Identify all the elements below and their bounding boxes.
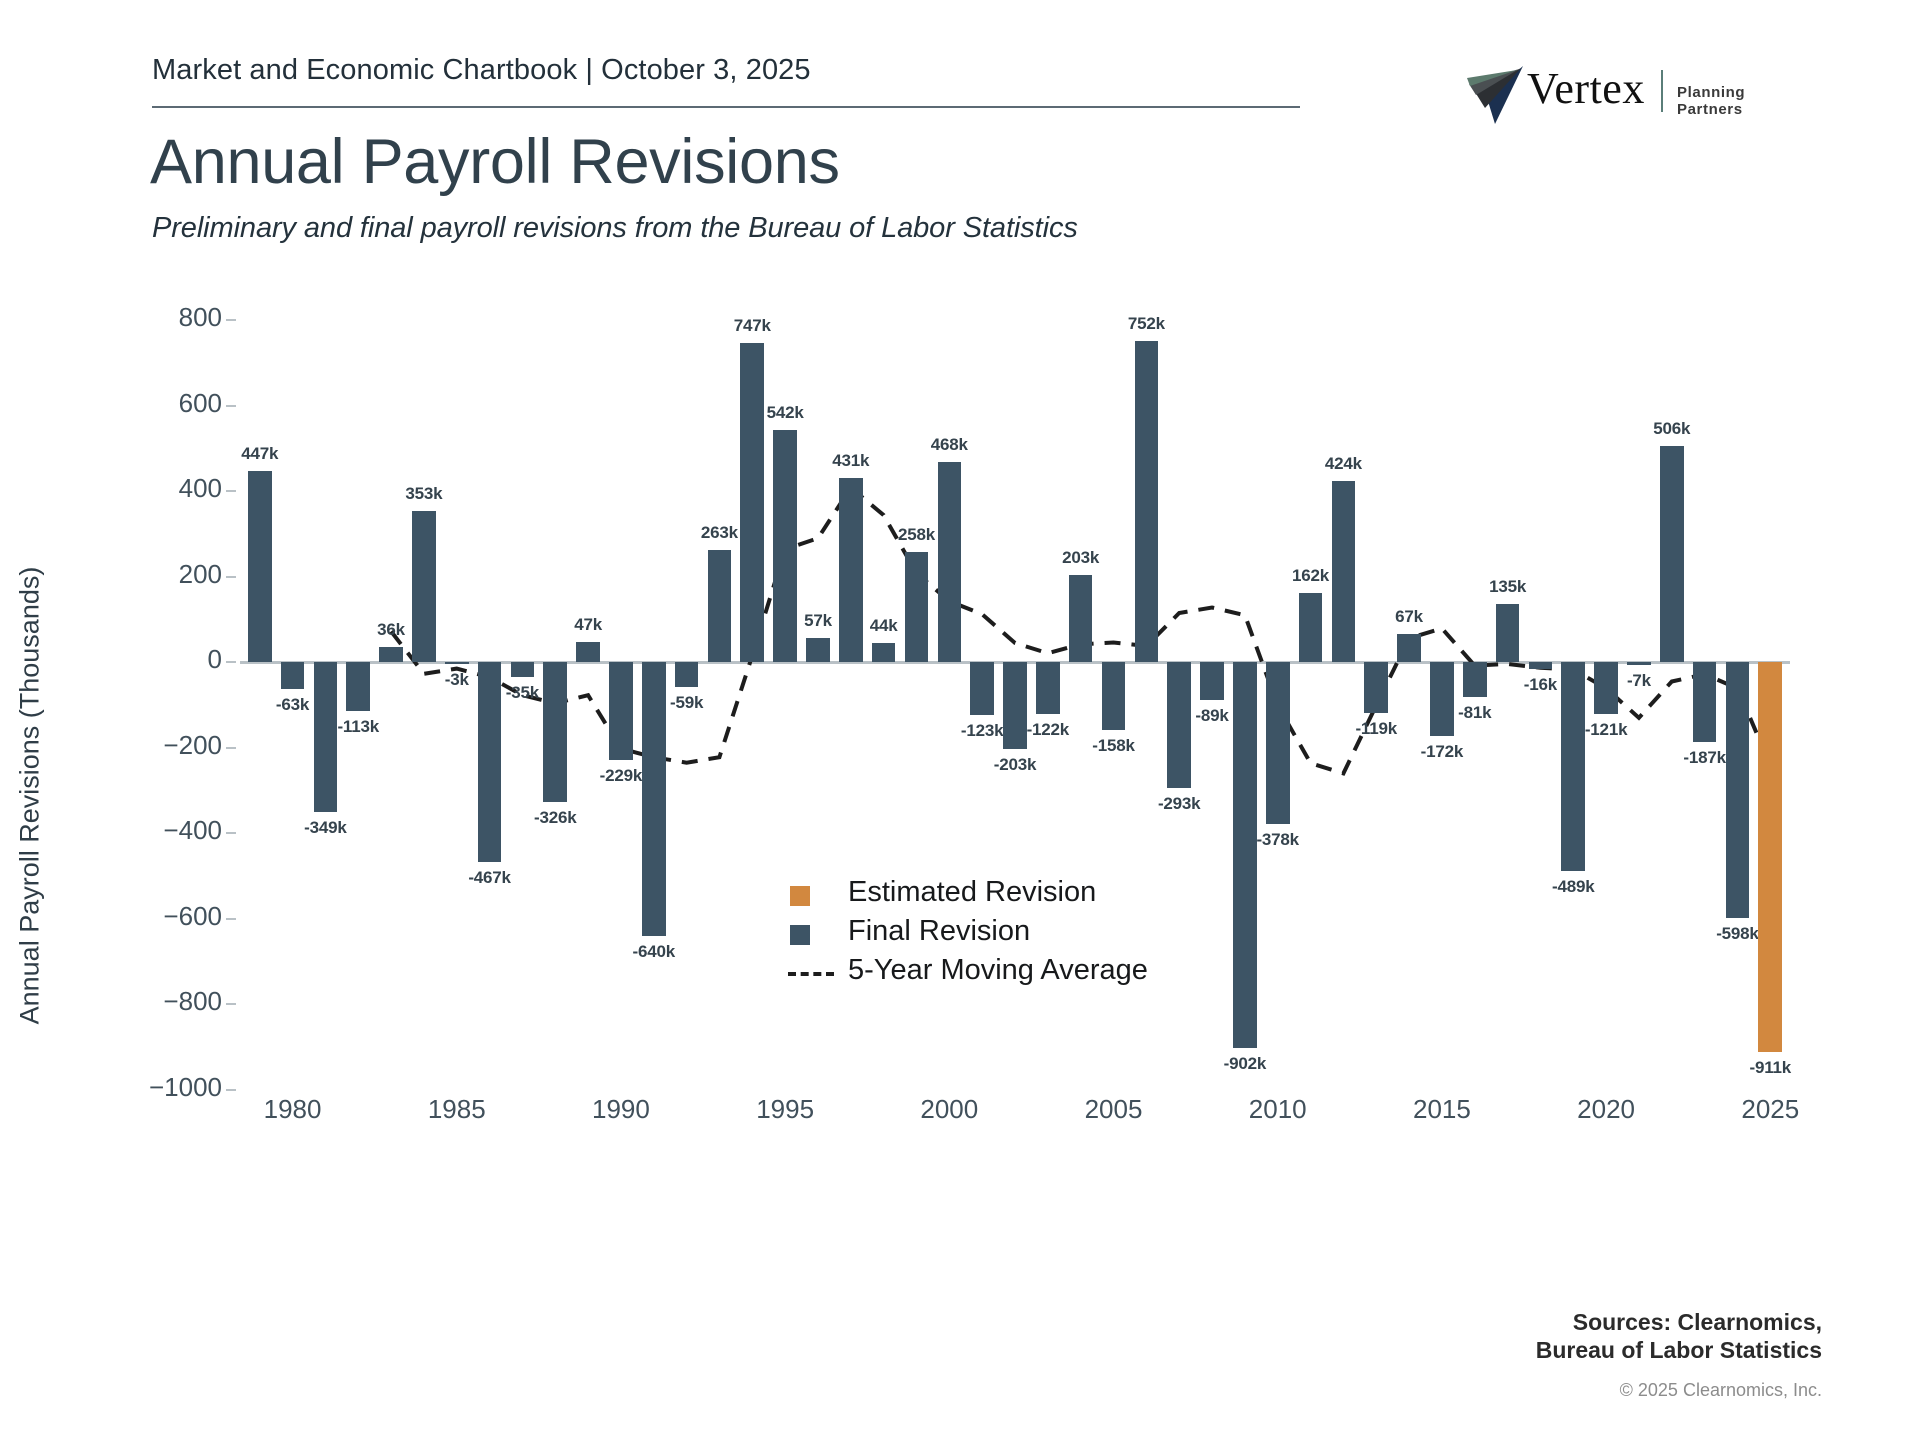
bar-value-label: -158k (1069, 736, 1159, 756)
bar-final-revision[interactable] (576, 642, 600, 662)
y-axis-tick-mark (226, 661, 236, 663)
bar-value-label: 468k (904, 435, 994, 455)
vertex-logo-wordmark: Vertex (1527, 63, 1645, 114)
header-divider (152, 106, 1300, 108)
bar-value-label: -911k (1725, 1058, 1815, 1078)
bar-value-label: 353k (379, 484, 469, 504)
sources-line-2: Bureau of Labor Statistics (1536, 1336, 1822, 1365)
bar-final-revision[interactable] (511, 662, 535, 677)
y-axis-tick-label: −200 (163, 730, 222, 761)
vertex-logo: Vertex Planning Partners (1465, 60, 1765, 130)
bar-final-revision[interactable] (1266, 662, 1290, 824)
bar-value-label: -113k (313, 717, 403, 737)
y-axis-tick-label: 600 (179, 388, 222, 419)
bar-value-label: -203k (970, 755, 1060, 775)
bar-value-label: -7k (1594, 671, 1684, 691)
legend-item-label: Final Revision (848, 915, 1030, 948)
x-axis-tick-label: 2015 (1413, 1094, 1471, 1125)
y-axis-tick-label: 200 (179, 559, 222, 590)
bar-value-label: 431k (806, 451, 896, 471)
chart-legend: Estimated RevisionFinal Revision5-Year M… (790, 876, 1210, 998)
bar-final-revision[interactable] (412, 511, 436, 662)
y-axis-tick-label: 800 (179, 302, 222, 333)
bar-value-label: 542k (740, 403, 830, 423)
x-axis-tick-label: 2000 (920, 1094, 978, 1125)
x-axis-tick-label: 1985 (428, 1094, 486, 1125)
bar-final-revision[interactable] (970, 662, 994, 715)
bar-final-revision[interactable] (1463, 662, 1487, 697)
vertex-logo-tagline: Planning Partners (1677, 84, 1765, 118)
legend-item-label: Estimated Revision (848, 876, 1096, 909)
bar-value-label: 447k (215, 444, 305, 464)
y-axis: Annual Payroll Revisions (Thousands) 800… (0, 320, 240, 1110)
y-axis-tick-label: 0 (208, 644, 222, 675)
sources-note: Sources: Clearnomics, Bureau of Labor St… (1536, 1308, 1822, 1366)
x-axis: 1980198519901995200020052010201520202025 (240, 1094, 1790, 1154)
legend-item-label: 5-Year Moving Average (848, 954, 1148, 987)
bar-value-label: 747k (707, 316, 797, 336)
bar-value-label: -378k (1233, 830, 1323, 850)
y-axis-tick-mark (226, 490, 236, 492)
bar-final-revision[interactable] (1561, 662, 1585, 871)
bar-value-label: -59k (642, 693, 732, 713)
y-axis-tick-mark (226, 1089, 236, 1091)
bar-final-revision[interactable] (1529, 662, 1553, 669)
y-axis-tick-mark (226, 319, 236, 321)
legend-swatch-icon (790, 925, 810, 945)
y-axis-tick-mark (226, 918, 236, 920)
x-axis-tick-label: 2010 (1249, 1094, 1307, 1125)
bar-final-revision[interactable] (905, 552, 929, 662)
bar-final-revision[interactable] (1102, 662, 1126, 730)
bar-final-revision[interactable] (938, 462, 962, 662)
y-axis-tick-mark (226, 576, 236, 578)
bar-final-revision[interactable] (1036, 662, 1060, 714)
bar-value-label: 203k (1036, 548, 1126, 568)
bar-final-revision[interactable] (1069, 575, 1093, 662)
bar-final-revision[interactable] (1233, 662, 1257, 1048)
bar-final-revision[interactable] (281, 662, 305, 689)
bar-value-label: -121k (1561, 720, 1651, 740)
bar-final-revision[interactable] (708, 550, 732, 663)
bar-estimated-revision[interactable] (1758, 662, 1782, 1052)
x-axis-tick-label: 2020 (1577, 1094, 1635, 1125)
legend-dashed-line-icon (788, 972, 834, 976)
x-axis-tick-label: 1980 (264, 1094, 322, 1125)
y-axis-tick-mark (226, 405, 236, 407)
bar-value-label: 47k (543, 615, 633, 635)
bar-final-revision[interactable] (1693, 662, 1717, 742)
y-axis-tick-mark (226, 1003, 236, 1005)
bar-final-revision[interactable] (1332, 481, 1356, 662)
bar-value-label: 424k (1298, 454, 1388, 474)
bar-final-revision[interactable] (1726, 662, 1750, 918)
bar-value-label: -902k (1200, 1054, 1290, 1074)
x-axis-tick-label: 2005 (1085, 1094, 1143, 1125)
y-axis-tick-mark (226, 832, 236, 834)
vertex-arrow-icon (1465, 64, 1527, 126)
logo-divider (1661, 70, 1663, 112)
bar-final-revision[interactable] (1299, 593, 1323, 662)
x-axis-tick-label: 1990 (592, 1094, 650, 1125)
y-axis-tick-label: −1000 (149, 1072, 222, 1103)
page-title: Annual Payroll Revisions (150, 126, 840, 198)
bar-final-revision[interactable] (1397, 634, 1421, 663)
bar-final-revision[interactable] (806, 638, 830, 662)
bar-value-label: -293k (1134, 794, 1224, 814)
y-axis-tick-label: −600 (163, 901, 222, 932)
bar-value-label: -172k (1397, 742, 1487, 762)
bar-value-label: -640k (609, 942, 699, 962)
bar-final-revision[interactable] (543, 662, 567, 801)
bar-final-revision[interactable] (1496, 604, 1520, 662)
page-subtitle: Preliminary and final payroll revisions … (152, 212, 1078, 245)
bar-value-label: -349k (280, 818, 370, 838)
x-axis-tick-label: 1995 (756, 1094, 814, 1125)
bar-final-revision[interactable] (609, 662, 633, 760)
bar-value-label: 752k (1101, 314, 1191, 334)
bar-final-revision[interactable] (872, 643, 896, 662)
chartbook-header-line: Market and Economic Chartbook | October … (152, 54, 811, 87)
bar-value-label: -326k (510, 808, 600, 828)
bar-final-revision[interactable] (379, 647, 403, 662)
y-axis-tick-label: −400 (163, 815, 222, 846)
bar-final-revision[interactable] (740, 343, 764, 663)
bar-value-label: -489k (1528, 877, 1618, 897)
bar-final-revision[interactable] (1135, 341, 1159, 663)
bar-value-label: -467k (445, 868, 535, 888)
bar-final-revision[interactable] (1660, 446, 1684, 662)
bar-value-label: 135k (1463, 577, 1553, 597)
bar-value-label: 67k (1364, 607, 1454, 627)
bar-value-label: -81k (1430, 703, 1520, 723)
y-axis-tick-label: −800 (163, 986, 222, 1017)
bar-final-revision[interactable] (314, 662, 338, 811)
y-axis-tick-mark (226, 747, 236, 749)
y-axis-title: Annual Payroll Revisions (Thousands) (15, 561, 46, 1031)
x-axis-tick-label: 2025 (1741, 1094, 1799, 1125)
bar-final-revision[interactable] (1430, 662, 1454, 736)
bar-final-revision[interactable] (346, 662, 370, 710)
copyright-note: © 2025 Clearnomics, Inc. (1620, 1380, 1822, 1401)
bar-final-revision[interactable] (1364, 662, 1388, 713)
bar-final-revision[interactable] (675, 662, 699, 687)
y-axis-tick-label: 400 (179, 473, 222, 504)
bar-value-label: -119k (1331, 719, 1421, 739)
bar-final-revision[interactable] (248, 471, 272, 662)
legend-swatch-icon (790, 886, 810, 906)
sources-line-1: Sources: Clearnomics, (1536, 1308, 1822, 1337)
bar-final-revision[interactable] (445, 662, 469, 664)
bar-final-revision[interactable] (1627, 662, 1651, 665)
bar-value-label: 506k (1627, 419, 1717, 439)
bar-final-revision[interactable] (1200, 662, 1224, 700)
